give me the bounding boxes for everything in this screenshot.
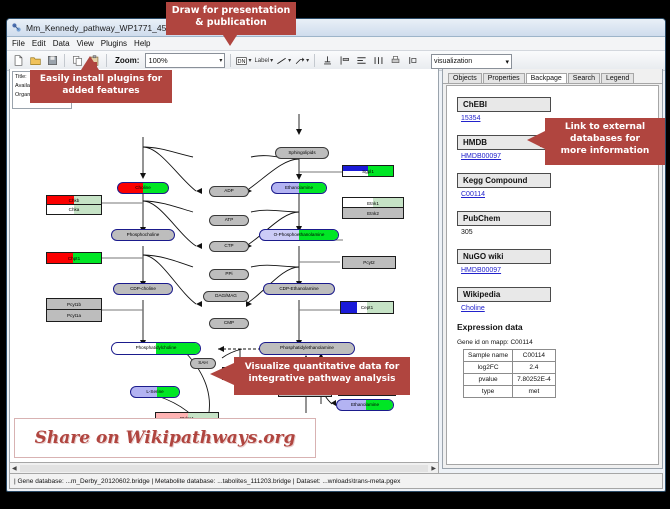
- kegg-link[interactable]: C00114: [461, 191, 485, 198]
- distribute-icon[interactable]: [371, 54, 385, 68]
- tab-objects[interactable]: Objects: [448, 73, 482, 83]
- node-ppi[interactable]: PPi: [209, 269, 249, 280]
- statusbar: | Gene database: ...m_Derby_20120602.bri…: [9, 473, 663, 489]
- gene-pcyt2[interactable]: Pcyt2: [342, 256, 396, 269]
- cell-type-value: met: [513, 386, 556, 398]
- gene-etnk2[interactable]: Etnk2: [342, 207, 404, 219]
- zoom-value: 100%: [148, 56, 167, 65]
- tab-properties[interactable]: Properties: [483, 73, 525, 83]
- node-cdp-ethanolamine[interactable]: CDP-Ethanolamine: [263, 283, 335, 295]
- toolbar-separator: [64, 54, 65, 67]
- node-phosphatidylcholine[interactable]: Phosphatidylcholine: [111, 342, 201, 355]
- node-label: ATP: [225, 218, 234, 223]
- nugo-value[interactable]: HMDB00097: [461, 267, 650, 274]
- plugins-callout: Easily install plugins for added feature…: [30, 70, 172, 103]
- chevron-down-icon[interactable]: ▾: [270, 57, 273, 64]
- menu-view[interactable]: View: [77, 39, 94, 48]
- new-file-icon[interactable]: [11, 54, 25, 68]
- align-left-icon[interactable]: [337, 54, 351, 68]
- chebi-header: ChEBI: [457, 97, 551, 112]
- chevron-down-icon[interactable]: ▾: [248, 57, 251, 64]
- plugins-callout-line2: added features: [30, 85, 172, 97]
- node-label: ADP: [224, 189, 233, 194]
- gene-cept1[interactable]: Cept1: [340, 301, 394, 314]
- expression-data-title: Expression data: [457, 322, 650, 332]
- node-cdp-choline[interactable]: CDP-choline: [113, 283, 173, 295]
- cell-sample-name-label: Sample name: [464, 350, 513, 362]
- open-folder-icon[interactable]: [28, 54, 42, 68]
- visualization-value: visualization: [434, 58, 472, 65]
- databases-callout: Link to external databases for more info…: [545, 118, 665, 165]
- screenshot-root: Mm_Kennedy_pathway_WP1771_45176.gpml Fil…: [0, 0, 670, 509]
- toolbar-separator-3: [230, 54, 231, 67]
- node-sphingolipids[interactable]: Sphingolipids: [275, 147, 329, 159]
- node-ethanolamine-top[interactable]: Ethanolamine: [271, 182, 327, 194]
- gene-label: Chka: [69, 207, 80, 212]
- statusbar-text: | Gene database: ...m_Derby_20120602.bri…: [14, 478, 400, 485]
- arrow-tool[interactable]: ▾: [294, 56, 309, 66]
- gene-label: Chkb: [69, 198, 80, 203]
- zoom-label: Zoom:: [115, 56, 139, 65]
- node-adp[interactable]: ADP: [209, 186, 249, 197]
- visualize-callout: Visualize quantitative data for integrat…: [234, 357, 410, 395]
- node-dag-mag[interactable]: DAG/MAG: [203, 291, 249, 302]
- node-label: DAG/MAG: [215, 294, 237, 299]
- databases-callout-line1: Link to external: [545, 121, 665, 133]
- databases-callout-line2: databases for: [545, 133, 665, 145]
- menu-plugins[interactable]: Plugins: [101, 39, 127, 48]
- menubar[interactable]: File Edit Data View Plugins Help: [7, 37, 665, 51]
- wikipedia-header: Wikipedia: [457, 287, 551, 302]
- gene-label: Pcyt2: [363, 260, 375, 265]
- visualize-callout-stem: [228, 368, 237, 381]
- cell-type-label: type: [464, 386, 513, 398]
- menu-edit[interactable]: Edit: [32, 39, 46, 48]
- draw-callout: Draw for presentation & publication: [166, 2, 296, 35]
- node-label: Phosphatidylcholine: [136, 346, 177, 351]
- expression-table: Sample name C00114 log2FC 2.4 pvalue 7.8…: [463, 349, 556, 398]
- node-phosphocholine[interactable]: Phosphocholine: [111, 229, 175, 241]
- node-label: SAH: [198, 361, 207, 366]
- node-label: L-Serine: [146, 390, 163, 395]
- table-row: Sample name C00114: [464, 350, 556, 362]
- gene-label: Etnk2: [367, 211, 379, 216]
- node-label: CMP: [224, 321, 234, 326]
- node-label: CDP-choline: [130, 287, 156, 292]
- node-choline[interactable]: Choline: [117, 182, 169, 194]
- table-row: pvalue 7.80252E-4: [464, 374, 556, 386]
- gene-label: Pcyt1b: [67, 302, 81, 307]
- gene-label: Pcyt1a: [67, 313, 81, 318]
- toolbar-separator-2: [106, 54, 107, 67]
- gene-label: Sgpl1: [362, 169, 374, 174]
- gene-id-line: Gene id on mapp: C00114: [457, 339, 650, 346]
- node-label: Phosphatidylethanolamine: [280, 346, 334, 351]
- wikipedia-link[interactable]: Choline: [461, 305, 485, 312]
- draw-callout-arrow: [221, 32, 239, 46]
- kegg-value[interactable]: C00114: [461, 191, 650, 198]
- menu-data[interactable]: Data: [53, 39, 70, 48]
- node-atp[interactable]: ATP: [209, 215, 249, 226]
- tab-search[interactable]: Search: [568, 73, 600, 83]
- line-tool[interactable]: ▾: [276, 56, 291, 66]
- node-ethanolamine-right[interactable]: Ethanolamine: [336, 399, 394, 411]
- visualize-callout-line1: Visualize quantitative data for: [234, 361, 410, 373]
- node-label: O-Phosphoethanolamine: [274, 233, 325, 238]
- scroll-left-icon[interactable]: ◀: [10, 465, 19, 472]
- chebi-link[interactable]: 15354: [461, 115, 480, 122]
- tab-backpage[interactable]: Backpage: [526, 73, 567, 83]
- gene-pcyt1a[interactable]: Pcyt1a: [46, 309, 102, 322]
- cell-pvalue-label: pvalue: [464, 374, 513, 386]
- chevron-down-icon[interactable]: ▾: [288, 57, 291, 64]
- chevron-down-icon[interactable]: ▾: [505, 58, 509, 66]
- share-callout-text: Share on Wikipathways.org: [35, 428, 296, 448]
- pubchem-value: 305: [461, 229, 650, 236]
- node-label: Sphingolipids: [288, 151, 315, 156]
- align-icon[interactable]: [320, 54, 334, 68]
- menu-file[interactable]: File: [12, 39, 25, 48]
- window-titlebar: Mm_Kennedy_pathway_WP1771_45176.gpml: [7, 19, 665, 37]
- pathway-canvas[interactable]: Sphingolipids Choline Ethanolamine ADP: [10, 69, 438, 468]
- zoom-combobox[interactable]: 100% ▾: [145, 53, 225, 68]
- svg-text:DN: DN: [238, 59, 246, 65]
- cell-sample-name-value: C00114: [513, 350, 556, 362]
- hmdb-link[interactable]: HMDB00097: [461, 153, 501, 160]
- toolbar-separator-4: [314, 54, 315, 67]
- plugins-callout-stem: [87, 62, 97, 74]
- node-label: Ethanolamine: [285, 186, 313, 191]
- pathvisio-icon: [11, 22, 22, 33]
- order-icon[interactable]: [354, 54, 368, 68]
- side-panel-tabstrip[interactable]: Objects Properties Backpage Search Legen…: [443, 69, 662, 84]
- node-cmp[interactable]: CMP: [209, 318, 249, 329]
- save-icon[interactable]: [45, 54, 59, 68]
- gene-sgpl1[interactable]: Sgpl1: [342, 165, 394, 177]
- gene-label: Cept1: [361, 305, 373, 310]
- scrollbar-thumb[interactable]: [20, 465, 429, 472]
- kegg-header: Kegg Compound: [457, 173, 551, 188]
- pathway-canvas-pane[interactable]: Sphingolipids Choline Ethanolamine ADP: [9, 69, 439, 469]
- visualization-combobox[interactable]: visualization ▾: [431, 54, 512, 69]
- table-row: log2FC 2.4: [464, 362, 556, 374]
- share-callout: Share on Wikipathways.org: [14, 418, 316, 458]
- node-label: Choline: [135, 186, 151, 191]
- label-tool[interactable]: Label ▾: [254, 57, 273, 64]
- gene-chka[interactable]: Chka: [46, 204, 102, 215]
- chevron-down-icon[interactable]: ▾: [219, 57, 222, 64]
- label-tool-caption: Label: [254, 58, 269, 64]
- gene-chpt1[interactable]: Chpt1: [46, 252, 102, 264]
- toolbar[interactable]: Zoom: 100% ▾ DN ▾ Label ▾ ▾ ▾: [7, 51, 665, 71]
- cell-pvalue-value: 7.80252E-4: [513, 374, 556, 386]
- visualize-callout-line2: integrative pathway analysis: [234, 373, 410, 385]
- group-icon[interactable]: [405, 54, 419, 68]
- node-l-serine-left[interactable]: L-Serine: [130, 386, 180, 398]
- nugo-header: NuGO wiki: [457, 249, 551, 264]
- node-label: Ethanolamine: [351, 403, 379, 408]
- gene-label: Chpt1: [68, 256, 80, 261]
- gene-label: Etnk1: [367, 201, 379, 206]
- print-icon[interactable]: [388, 54, 402, 68]
- node-ctp[interactable]: CTP: [209, 241, 249, 252]
- node-phosphatidylethanolamine[interactable]: Phosphatidylethanolamine: [259, 342, 355, 355]
- pubchem-header: PubChem: [457, 211, 551, 226]
- node-label: CDP-Ethanolamine: [279, 287, 318, 292]
- cell-log2fc-label: log2FC: [464, 362, 513, 374]
- node-label: CTP: [224, 244, 233, 249]
- nugo-link[interactable]: HMDB00097: [461, 267, 501, 274]
- scroll-right-icon[interactable]: ▶: [429, 465, 438, 472]
- chevron-down-icon[interactable]: ▾: [306, 57, 309, 64]
- plugins-callout-line1: Easily install plugins for: [30, 73, 172, 85]
- wikipedia-value[interactable]: Choline: [461, 305, 650, 312]
- databases-callout-line3: more information: [545, 145, 665, 157]
- databases-callout-stem: [540, 134, 548, 147]
- draw-callout-line2: & publication: [166, 17, 296, 29]
- tab-legend[interactable]: Legend: [601, 73, 634, 83]
- node-label: PPi: [225, 272, 232, 277]
- node-label: Phosphocholine: [127, 233, 160, 238]
- node-o-phosphoethanolamine[interactable]: O-Phosphoethanolamine: [259, 229, 339, 241]
- cell-log2fc-value: 2.4: [513, 362, 556, 374]
- table-row: type met: [464, 386, 556, 398]
- datanode-tool[interactable]: DN ▾: [236, 56, 251, 66]
- menu-help[interactable]: Help: [134, 39, 150, 48]
- draw-callout-line1: Draw for presentation: [166, 5, 296, 17]
